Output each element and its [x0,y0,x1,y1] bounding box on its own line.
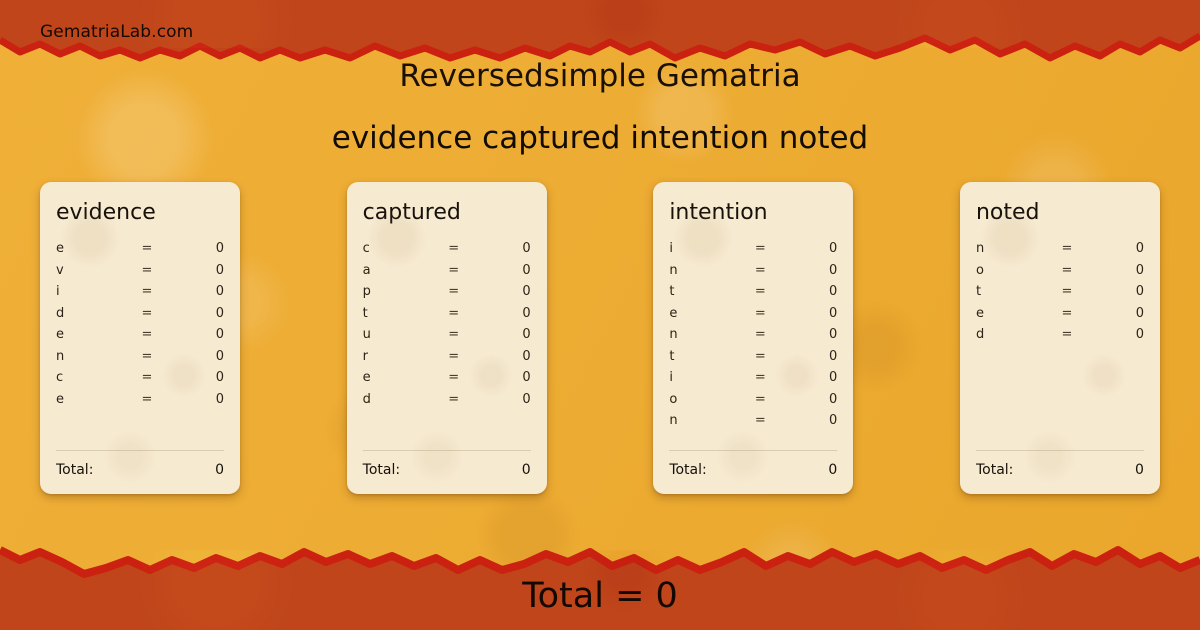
card-total-row: Total:0 [56,462,224,494]
letter-row: n=0 [56,346,224,368]
letter-value: 0 [789,370,837,385]
letter-row: d=0 [56,303,224,325]
card-total-label: Total: [56,462,215,478]
card-total-row: Total:0 [669,462,837,494]
letter-value: 0 [1096,284,1144,299]
card-word-title: captured [363,201,531,225]
letter-label: i [669,241,731,256]
letter-label: i [669,370,731,385]
letter-value: 0 [483,241,531,256]
card-total-value: 0 [828,462,837,478]
equals-sign: = [1038,327,1096,342]
letter-value: 0 [483,392,531,407]
letter-label: e [56,327,118,342]
letter-value: 0 [789,413,837,428]
equals-sign: = [118,241,176,256]
card-divider [976,450,1144,451]
letter-row-list: c=0a=0p=0t=0u=0r=0e=0d=0 [363,238,531,410]
equals-sign: = [425,327,483,342]
card-total-label: Total: [363,462,522,478]
letter-value: 0 [1096,263,1144,278]
card-spacer [363,410,531,450]
letter-label: c [363,241,425,256]
letter-row: o=0 [669,389,837,411]
letter-value: 0 [1096,306,1144,321]
equals-sign: = [1038,241,1096,256]
letter-row: o=0 [976,260,1144,282]
letter-value: 0 [789,392,837,407]
equals-sign: = [118,349,176,364]
gematria-result-card: GematriaLab.com Reversedsimple Gematria … [0,0,1200,630]
letter-row: p=0 [363,281,531,303]
letter-row: i=0 [56,281,224,303]
letter-row: n=0 [976,238,1144,260]
equals-sign: = [1038,306,1096,321]
letter-label: e [56,241,118,256]
letter-label: o [976,263,1038,278]
letter-row: i=0 [669,367,837,389]
letter-value: 0 [176,349,224,364]
letter-row: v=0 [56,260,224,282]
letter-row: e=0 [56,324,224,346]
letter-value: 0 [176,392,224,407]
letter-row: d=0 [976,324,1144,346]
site-brand[interactable]: GematriaLab.com [40,22,193,42]
letter-label: v [56,263,118,278]
letter-value: 0 [789,327,837,342]
bottom-band-edge [0,550,1200,574]
letter-row-list: n=0o=0t=0e=0d=0 [976,238,1144,346]
letter-value: 0 [483,370,531,385]
letter-label: d [56,306,118,321]
equals-sign: = [731,392,789,407]
letter-value: 0 [483,306,531,321]
letter-row: a=0 [363,260,531,282]
letter-row: t=0 [363,303,531,325]
letter-label: p [363,284,425,299]
equals-sign: = [731,263,789,278]
letter-row: e=0 [363,367,531,389]
letter-label: i [56,284,118,299]
letter-row: c=0 [56,367,224,389]
letter-value: 0 [176,370,224,385]
letter-row: t=0 [669,281,837,303]
card-total-row: Total:0 [363,462,531,494]
letter-value: 0 [176,284,224,299]
equals-sign: = [425,263,483,278]
equals-sign: = [1038,284,1096,299]
letter-row: d=0 [363,389,531,411]
letter-row-list: i=0n=0t=0e=0n=0t=0i=0o=0n=0 [669,238,837,432]
letter-value: 0 [789,263,837,278]
card-total-label: Total: [669,462,828,478]
letter-row: t=0 [669,346,837,368]
card-total-row: Total:0 [976,462,1144,494]
letter-value: 0 [176,263,224,278]
letter-value: 0 [483,349,531,364]
letter-label: n [976,241,1038,256]
card-spacer [976,346,1144,450]
equals-sign: = [118,306,176,321]
letter-row: e=0 [56,238,224,260]
letter-value: 0 [789,241,837,256]
equals-sign: = [118,392,176,407]
letter-label: c [56,370,118,385]
phrase-subtitle: evidence captured intention noted [0,120,1200,156]
equals-sign: = [425,241,483,256]
letter-label: u [363,327,425,342]
word-card: intentioni=0n=0t=0e=0n=0t=0i=0o=0n=0Tota… [653,182,853,494]
equals-sign: = [118,284,176,299]
letter-label: n [669,413,731,428]
equals-sign: = [731,370,789,385]
word-card-list: evidencee=0v=0i=0d=0e=0n=0c=0e=0Total:0c… [40,182,1160,494]
word-card: notedn=0o=0t=0e=0d=0Total:0 [960,182,1160,494]
letter-value: 0 [789,349,837,364]
letter-row: i=0 [669,238,837,260]
letter-value: 0 [483,284,531,299]
letter-value: 0 [789,306,837,321]
card-total-value: 0 [1135,462,1144,478]
letter-row: e=0 [56,389,224,411]
card-divider [363,450,531,451]
card-spacer [669,432,837,450]
equals-sign: = [731,284,789,299]
card-divider [669,450,837,451]
word-card: evidencee=0v=0i=0d=0e=0n=0c=0e=0Total:0 [40,182,240,494]
letter-label: t [669,349,731,364]
word-card: capturedc=0a=0p=0t=0u=0r=0e=0d=0Total:0 [347,182,547,494]
equals-sign: = [118,263,176,278]
letter-label: n [669,327,731,342]
letter-label: e [976,306,1038,321]
letter-value: 0 [176,327,224,342]
equals-sign: = [1038,263,1096,278]
equals-sign: = [425,370,483,385]
letter-row: e=0 [976,303,1144,325]
equals-sign: = [731,349,789,364]
letter-value: 0 [176,306,224,321]
letter-label: a [363,263,425,278]
equals-sign: = [425,349,483,364]
equals-sign: = [425,284,483,299]
equals-sign: = [425,392,483,407]
letter-row: n=0 [669,260,837,282]
equals-sign: = [118,370,176,385]
letter-label: e [363,370,425,385]
card-total-label: Total: [976,462,1135,478]
equals-sign: = [731,413,789,428]
card-total-value: 0 [522,462,531,478]
letter-label: o [669,392,731,407]
letter-label: e [669,306,731,321]
letter-value: 0 [483,327,531,342]
equals-sign: = [731,306,789,321]
letter-row-list: e=0v=0i=0d=0e=0n=0c=0e=0 [56,238,224,410]
letter-label: d [976,327,1038,342]
letter-row: r=0 [363,346,531,368]
card-word-title: intention [669,201,837,225]
letter-row: t=0 [976,281,1144,303]
card-word-title: evidence [56,201,224,225]
letter-row: n=0 [669,324,837,346]
letter-label: n [669,263,731,278]
page-title: Reversedsimple Gematria [0,58,1200,94]
equals-sign: = [425,306,483,321]
letter-label: n [56,349,118,364]
card-divider [56,450,224,451]
letter-label: t [363,306,425,321]
letter-value: 0 [483,263,531,278]
letter-value: 0 [176,241,224,256]
letter-label: t [976,284,1038,299]
letter-label: t [669,284,731,299]
letter-label: e [56,392,118,407]
letter-label: d [363,392,425,407]
equals-sign: = [731,327,789,342]
letter-value: 0 [789,284,837,299]
letter-row: c=0 [363,238,531,260]
equals-sign: = [118,327,176,342]
letter-value: 0 [1096,241,1144,256]
card-word-title: noted [976,201,1144,225]
equals-sign: = [731,241,789,256]
letter-row: n=0 [669,410,837,432]
card-total-value: 0 [215,462,224,478]
letter-label: r [363,349,425,364]
letter-value: 0 [1096,327,1144,342]
grand-total: Total = 0 [0,576,1200,616]
letter-row: e=0 [669,303,837,325]
card-spacer [56,410,224,450]
letter-row: u=0 [363,324,531,346]
